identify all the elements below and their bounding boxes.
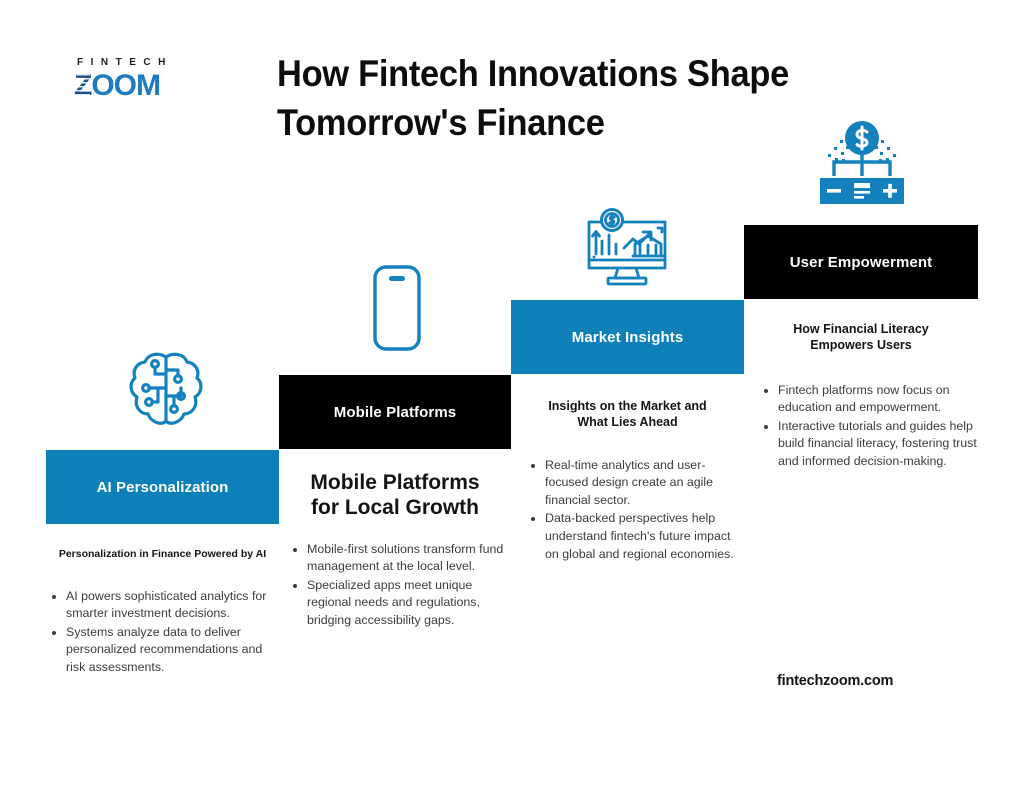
step-4-bullet-list: Fintech platforms now focus on education… (744, 382, 978, 471)
money-distribution-icon (812, 114, 912, 211)
step-1-band: AI Personalization (46, 450, 279, 524)
step-column-4: User Empowerment How Financial Literacy … (744, 225, 978, 472)
page-title-line2: Tomorrow's Finance (277, 99, 835, 148)
step-2-band-label: Mobile Platforms (334, 404, 456, 421)
smartphone-icon (371, 264, 423, 357)
step-1-subtitle: Personalization in Finance Powered by AI (46, 548, 279, 562)
list-item: Interactive tutorials and guides help bu… (778, 418, 978, 471)
step-3-band: Market Insights (511, 300, 744, 374)
step-column-2: Mobile Platforms Mobile Platforms for Lo… (279, 375, 511, 631)
ai-brain-circuit-icon (128, 350, 204, 439)
step-column-3: Market Insights Insights on the Market a… (511, 300, 744, 564)
list-item: AI powers sophisticated analytics for sm… (66, 588, 279, 623)
step-4-band: User Empowerment (744, 225, 978, 299)
step-4-subtitle: How Financial Literacy Empowers Users (744, 321, 978, 354)
list-item: Specialized apps meet unique regional ne… (307, 577, 511, 630)
step-4-subtitle-line2: Empowers Users (744, 337, 978, 353)
footer-website: fintechzoom.com (777, 673, 893, 689)
list-item: Data-backed perspectives help understand… (545, 510, 744, 563)
infographic-canvas: FINTECH ZOOM How Fintech Innovations Sha… (0, 0, 1024, 791)
list-item: Systems analyze data to deliver personal… (66, 624, 279, 677)
step-2-bullet-list: Mobile-first solutions transform fund ma… (279, 541, 511, 630)
step-2-subtitle: Mobile Platforms for Local Growth (279, 471, 511, 521)
step-3-subtitle-line2: What Lies Ahead (511, 414, 744, 430)
logo-letters-oom: OOM (91, 70, 160, 102)
step-3-band-label: Market Insights (572, 329, 684, 346)
step-2-band: Mobile Platforms (279, 375, 511, 449)
monitor-analytics-icon (580, 208, 674, 293)
logo-wordmark-top: FINTECH (77, 58, 199, 68)
step-4-subtitle-line1: How Financial Literacy (744, 321, 978, 337)
page-title-line1: How Fintech Innovations Shape (277, 50, 835, 99)
step-3-subtitle: Insights on the Market and What Lies Ahe… (511, 398, 744, 431)
list-item: Real-time analytics and user-focused des… (545, 457, 744, 510)
step-1-band-label: AI Personalization (97, 479, 229, 496)
step-2-subtitle-line2: for Local Growth (279, 496, 511, 521)
list-item: Mobile-first solutions transform fund ma… (307, 541, 511, 576)
list-item: Fintech platforms now focus on education… (778, 382, 978, 417)
page-title: How Fintech Innovations Shape Tomorrow's… (277, 50, 835, 148)
logo-letter-z: Z (74, 70, 91, 102)
step-4-band-label: User Empowerment (790, 254, 932, 271)
fintechzoom-logo: FINTECH ZOOM (74, 58, 199, 102)
step-column-1: AI Personalization Personalization in Fi… (46, 450, 279, 678)
logo-wordmark-bottom: ZOOM (74, 70, 199, 102)
step-3-subtitle-line1: Insights on the Market and (511, 398, 744, 414)
step-1-bullet-list: AI powers sophisticated analytics for sm… (46, 588, 279, 677)
step-3-bullet-list: Real-time analytics and user-focused des… (511, 457, 744, 564)
step-2-subtitle-line1: Mobile Platforms (279, 471, 511, 496)
